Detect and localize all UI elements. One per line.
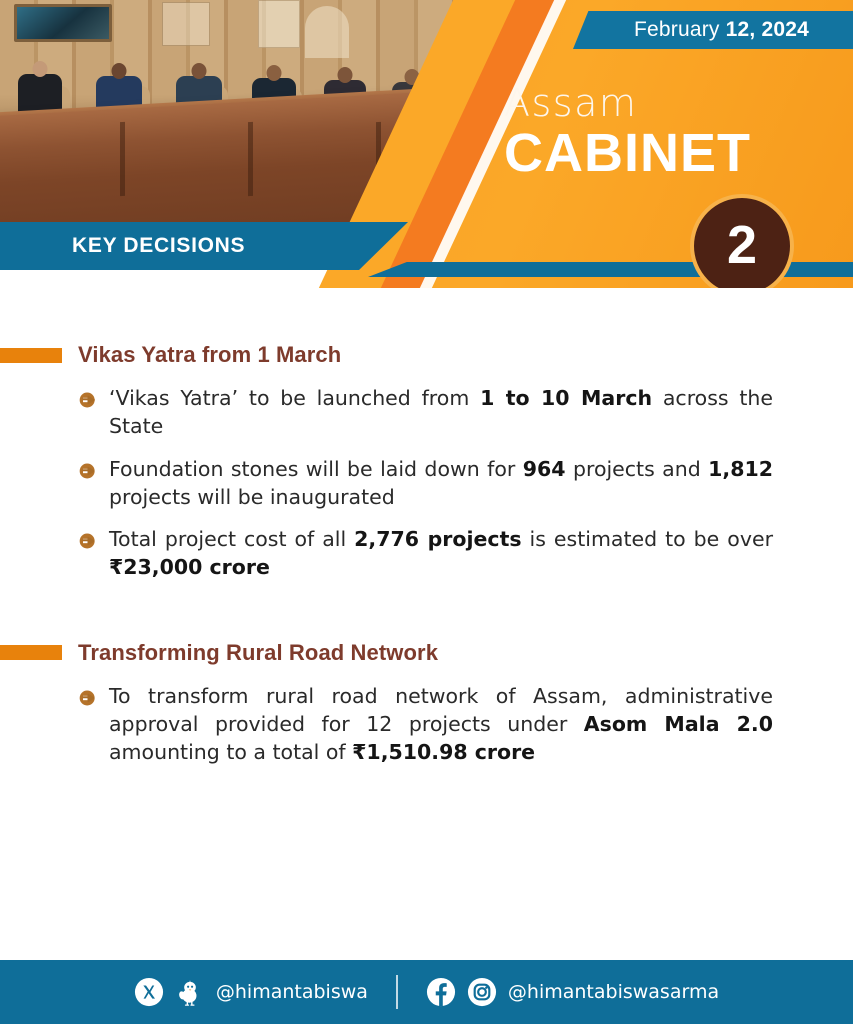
bullet-run: Total project cost of all bbox=[109, 527, 354, 551]
bullet-run: ‘Vikas Yatra’ to be launched from bbox=[109, 386, 480, 410]
x-twitter-icon[interactable] bbox=[134, 977, 164, 1007]
bullet-item: ‘Vikas Yatra’ to be launched from 1 to 1… bbox=[78, 384, 773, 441]
decision-section: Transforming Rural Road Network To trans… bbox=[0, 640, 793, 767]
bullet-list: ‘Vikas Yatra’ to be launched from 1 to 1… bbox=[0, 384, 793, 582]
title-cabinet: CABINET bbox=[504, 124, 844, 182]
title-assam: Assam bbox=[504, 84, 844, 122]
bullet-run: projects will be inaugurated bbox=[109, 485, 395, 509]
bullet-run: amounting to a total of bbox=[109, 740, 352, 764]
bullet-run-bold: Asom Mala 2.0 bbox=[584, 712, 773, 736]
social-footer: @himantabiswa @himantabiswasarma bbox=[0, 960, 853, 1024]
section-marker-bar bbox=[0, 348, 62, 363]
footer-right-group: @himantabiswasarma bbox=[426, 977, 719, 1007]
bullet-run-bold: 1 to 10 March bbox=[480, 386, 652, 410]
bullet-text: Foundation stones will be laid down for … bbox=[109, 455, 773, 512]
bullet-text: Total project cost of all 2,776 projects… bbox=[109, 525, 773, 582]
date-day-year: 12, 2024 bbox=[726, 18, 809, 42]
bullet-item: To transform rural road network of Assam… bbox=[78, 682, 773, 767]
decision-section: Vikas Yatra from 1 March ‘Vikas Yatra’ t… bbox=[0, 342, 793, 582]
decisions-content: Vikas Yatra from 1 March ‘Vikas Yatra’ t… bbox=[0, 288, 853, 960]
bullet-run-bold: ₹1,510.98 crore bbox=[352, 740, 535, 764]
bullet-run-bold: 964 bbox=[523, 457, 566, 481]
circle-arrow-right-icon bbox=[78, 688, 98, 708]
wall-panel bbox=[162, 2, 210, 46]
table-panel-seam bbox=[120, 122, 125, 196]
bullet-run: is estimated to be over bbox=[522, 527, 773, 551]
section-title: Transforming Rural Road Network bbox=[78, 640, 438, 666]
footer-left-group: @himantabiswa bbox=[134, 977, 368, 1007]
wall-arch bbox=[305, 6, 349, 58]
bullet-item: Total project cost of all 2,776 projects… bbox=[78, 525, 773, 582]
wall-panel bbox=[258, 0, 300, 48]
footer-divider bbox=[396, 975, 398, 1009]
hero-header: February 12, 2024 Assam CABINET 2 KEY DE… bbox=[0, 0, 853, 288]
bullet-list: To transform rural road network of Assam… bbox=[0, 682, 793, 767]
decision-count-badge: 2 bbox=[690, 194, 794, 288]
instagram-handle[interactable]: @himantabiswasarma bbox=[508, 981, 719, 1003]
date-month: February bbox=[634, 18, 720, 42]
circle-arrow-right-icon bbox=[78, 390, 98, 410]
bullet-run-bold: ₹23,000 crore bbox=[109, 555, 270, 579]
key-decisions-label: KEY DECISIONS bbox=[72, 234, 245, 258]
bullet-item: Foundation stones will be laid down for … bbox=[78, 455, 773, 512]
bullet-run-bold: 1,812 bbox=[708, 457, 773, 481]
twitter-handle[interactable]: @himantabiswa bbox=[216, 981, 368, 1003]
bullet-run-bold: 2,776 projects bbox=[354, 527, 521, 551]
bullet-text: ‘Vikas Yatra’ to be launched from 1 to 1… bbox=[109, 384, 773, 441]
date-ribbon: February 12, 2024 bbox=[573, 11, 853, 49]
circle-arrow-right-icon bbox=[78, 531, 98, 551]
bullet-text: To transform rural road network of Assam… bbox=[109, 682, 773, 767]
section-header: Vikas Yatra from 1 March bbox=[0, 342, 793, 368]
section-header: Transforming Rural Road Network bbox=[0, 640, 793, 666]
section-title: Vikas Yatra from 1 March bbox=[78, 342, 341, 368]
instagram-icon[interactable] bbox=[467, 977, 497, 1007]
facebook-icon[interactable] bbox=[426, 977, 456, 1007]
bullet-run: projects and bbox=[566, 457, 709, 481]
circle-arrow-right-icon bbox=[78, 461, 98, 481]
bullet-run: Foundation stones will be laid down for bbox=[109, 457, 523, 481]
section-marker-bar bbox=[0, 645, 62, 660]
koo-bird-icon[interactable] bbox=[175, 977, 205, 1007]
table-panel-seam bbox=[248, 122, 253, 196]
key-decisions-bar: KEY DECISIONS bbox=[0, 222, 408, 270]
cabinet-decisions-poster: February 12, 2024 Assam CABINET 2 KEY DE… bbox=[0, 0, 853, 1024]
poster-title: Assam CABINET bbox=[504, 84, 844, 182]
badge-number: 2 bbox=[727, 218, 757, 272]
wall-display-screen bbox=[14, 4, 112, 42]
